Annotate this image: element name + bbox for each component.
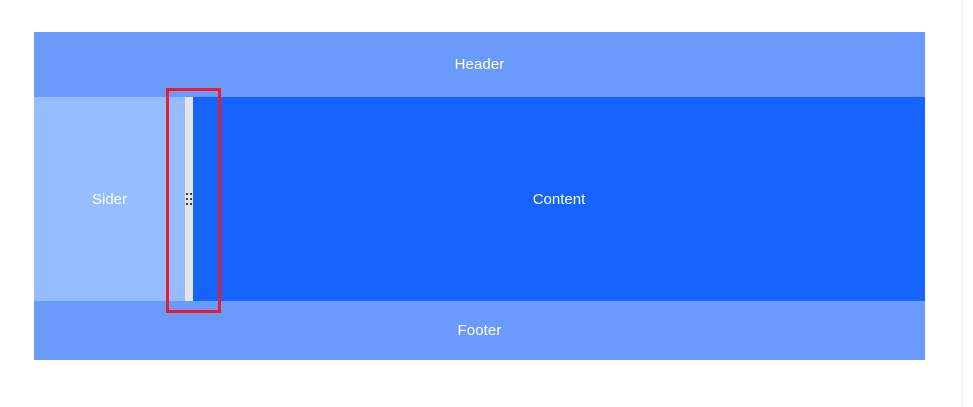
drag-dot <box>186 198 188 200</box>
footer-label: Footer <box>458 323 502 338</box>
sider-label: Sider <box>92 191 127 208</box>
drag-dot <box>186 193 188 195</box>
content-label: Content <box>533 191 586 208</box>
drag-dot <box>190 203 192 205</box>
drag-dot <box>186 203 188 205</box>
layout-container: Header Sider Content Footer <box>34 32 925 360</box>
header-label: Header <box>455 57 505 72</box>
page-scrollbar[interactable] <box>962 0 973 407</box>
drag-dots-icon[interactable] <box>186 193 192 205</box>
splitter-bar[interactable] <box>185 97 193 301</box>
middle-row: Sider Content <box>34 97 925 301</box>
footer-section: Footer <box>34 301 925 360</box>
drag-dot <box>190 193 192 195</box>
sider-section: Sider <box>34 97 185 301</box>
header-section: Header <box>34 32 925 97</box>
content-section: Content <box>193 97 925 301</box>
drag-dot <box>190 198 192 200</box>
